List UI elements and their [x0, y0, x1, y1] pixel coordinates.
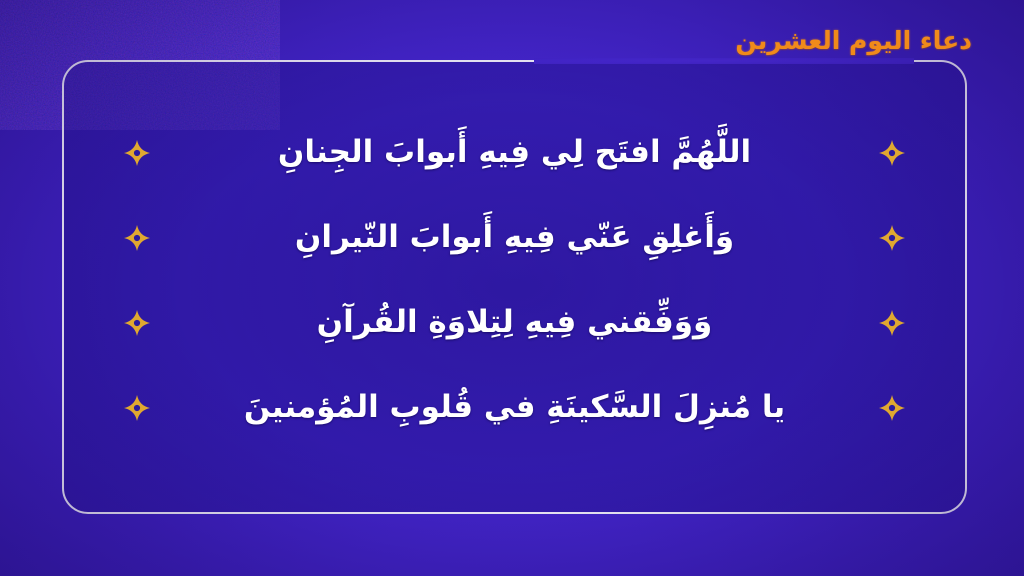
dua-line-text: يا مُنزِلَ السَّكينَةِ في قُلوبِ المُؤمن… — [150, 390, 879, 426]
list-item: وَوَفِّقني فِيهِ لِتِلاوَةِ القُرآنِ — [62, 280, 967, 365]
list-item: وَأَغلِقِ عَنّي فِيهِ أَبوابَ النّيرانِ — [62, 195, 967, 280]
dua-lines-list: اللَّهُمَّ افتَح لِي فِيهِ أَبوابَ الجِن… — [62, 110, 967, 450]
poster-canvas: دعاء اليوم العشرين اللَّهُمَّ افتَح لِي … — [0, 0, 1024, 576]
dua-line-text: اللَّهُمَّ افتَح لِي فِيهِ أَبوابَ الجِن… — [150, 135, 879, 171]
four-pointed-star-icon — [124, 395, 150, 421]
dua-line-text: وَوَفِّقني فِيهِ لِتِلاوَةِ القُرآنِ — [150, 305, 879, 341]
four-pointed-star-icon — [124, 310, 150, 336]
four-pointed-star-icon — [879, 140, 905, 166]
four-pointed-star-icon — [879, 395, 905, 421]
page-title: دعاء اليوم العشرين — [735, 26, 972, 55]
four-pointed-star-icon — [879, 225, 905, 251]
dua-line-text: وَأَغلِقِ عَنّي فِيهِ أَبوابَ النّيرانِ — [150, 220, 879, 256]
four-pointed-star-icon — [124, 140, 150, 166]
four-pointed-star-icon — [879, 310, 905, 336]
four-pointed-star-icon — [124, 225, 150, 251]
title-border-gap — [534, 58, 914, 64]
list-item: اللَّهُمَّ افتَح لِي فِيهِ أَبوابَ الجِن… — [62, 110, 967, 195]
list-item: يا مُنزِلَ السَّكينَةِ في قُلوبِ المُؤمن… — [62, 365, 967, 450]
